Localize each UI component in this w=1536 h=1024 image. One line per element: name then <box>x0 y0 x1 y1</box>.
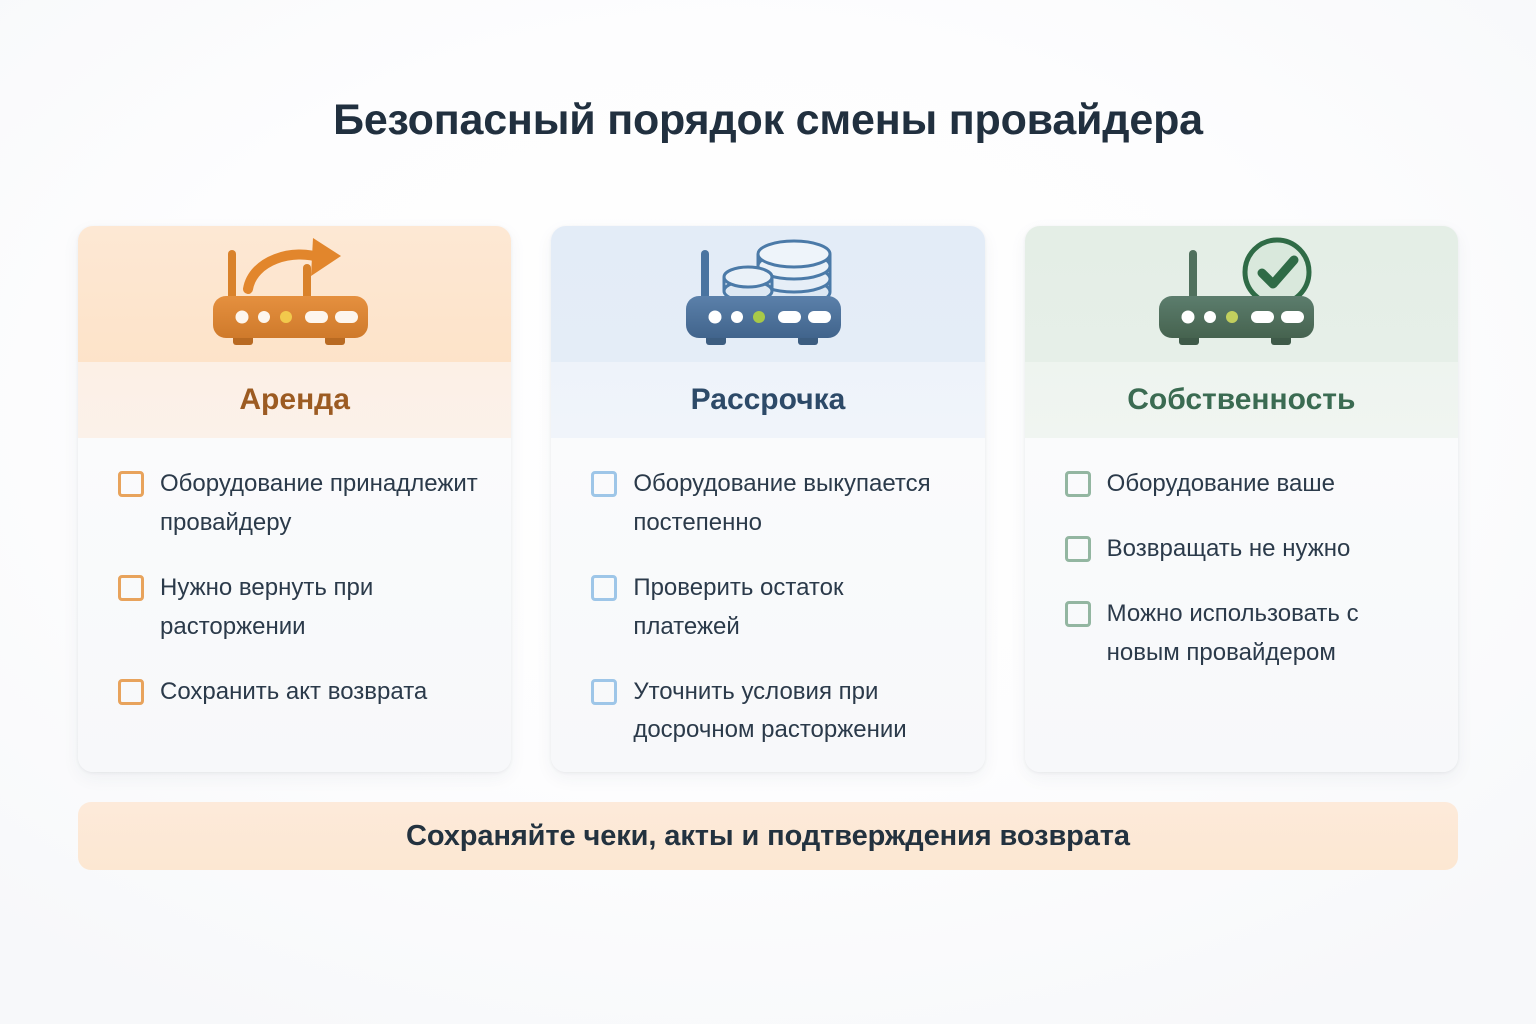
list-item[interactable]: Уточнить условия при досрочном расторжен… <box>591 673 962 751</box>
list-item-label: Уточнить условия при досрочном расторжен… <box>633 673 953 751</box>
list-item-label: Оборудование выкупается постепенно <box>633 465 953 543</box>
checkbox-icon[interactable] <box>591 679 617 705</box>
card-ownership[interactable]: Собственность Оборудование ваше Возвраща… <box>1025 226 1458 772</box>
list-item[interactable]: Возвращать не нужно <box>1065 530 1436 569</box>
list-item-label: Проверить остаток платежей <box>633 569 953 647</box>
card-ownership-icon-area <box>1025 226 1458 362</box>
checkbox-icon[interactable] <box>591 471 617 497</box>
list-item[interactable]: Нужно вернуть при расторжении <box>118 569 489 647</box>
list-item[interactable]: Можно использовать с новым провайдером <box>1065 595 1436 673</box>
router-check-circle-icon <box>1131 234 1351 354</box>
footer-banner-text: Сохраняйте чеки, акты и подтверждения во… <box>406 820 1130 853</box>
list-item[interactable]: Оборудование выкупается постепенно <box>591 465 962 543</box>
list-item-label: Возвращать не нужно <box>1107 530 1351 569</box>
card-rent-list: Оборудование принадлежит провайдеру Нужн… <box>78 438 511 772</box>
card-installment-list: Оборудование выкупается постепенно Прове… <box>551 438 984 772</box>
checkbox-icon[interactable] <box>118 679 144 705</box>
checkbox-icon[interactable] <box>1065 601 1091 627</box>
checkbox-icon[interactable] <box>591 575 617 601</box>
router-coins-icon <box>658 234 878 354</box>
checkbox-icon[interactable] <box>1065 471 1091 497</box>
checkbox-icon[interactable] <box>118 471 144 497</box>
list-item[interactable]: Проверить остаток платежей <box>591 569 962 647</box>
card-installment-title: Рассрочка <box>551 362 984 438</box>
checkbox-icon[interactable] <box>1065 536 1091 562</box>
infographic-page: Безопасный порядок смены провайдера <box>0 0 1536 1024</box>
list-item-label: Оборудование принадлежит провайдеру <box>160 465 480 543</box>
card-rent-title: Аренда <box>78 362 511 438</box>
list-item-label: Оборудование ваше <box>1107 465 1335 504</box>
card-rent-icon-area <box>78 226 511 362</box>
checkbox-icon[interactable] <box>118 575 144 601</box>
card-rent[interactable]: Аренда Оборудование принадлежит провайде… <box>78 226 511 772</box>
page-title: Безопасный порядок смены провайдера <box>0 96 1536 145</box>
list-item-label: Можно использовать с новым провайдером <box>1107 595 1427 673</box>
card-ownership-list: Оборудование ваше Возвращать не нужно Мо… <box>1025 438 1458 772</box>
list-item[interactable]: Сохранить акт возврата <box>118 673 489 712</box>
footer-banner: Сохраняйте чеки, акты и подтверждения во… <box>78 802 1458 870</box>
router-return-arrow-icon <box>185 234 405 354</box>
cards-row: Аренда Оборудование принадлежит провайде… <box>78 226 1458 772</box>
list-item[interactable]: Оборудование ваше <box>1065 465 1436 504</box>
list-item[interactable]: Оборудование принадлежит провайдеру <box>118 465 489 543</box>
card-installment-icon-area <box>551 226 984 362</box>
card-ownership-title: Собственность <box>1025 362 1458 438</box>
list-item-label: Нужно вернуть при расторжении <box>160 569 480 647</box>
list-item-label: Сохранить акт возврата <box>160 673 427 712</box>
card-installment[interactable]: Рассрочка Оборудование выкупается постеп… <box>551 226 984 772</box>
